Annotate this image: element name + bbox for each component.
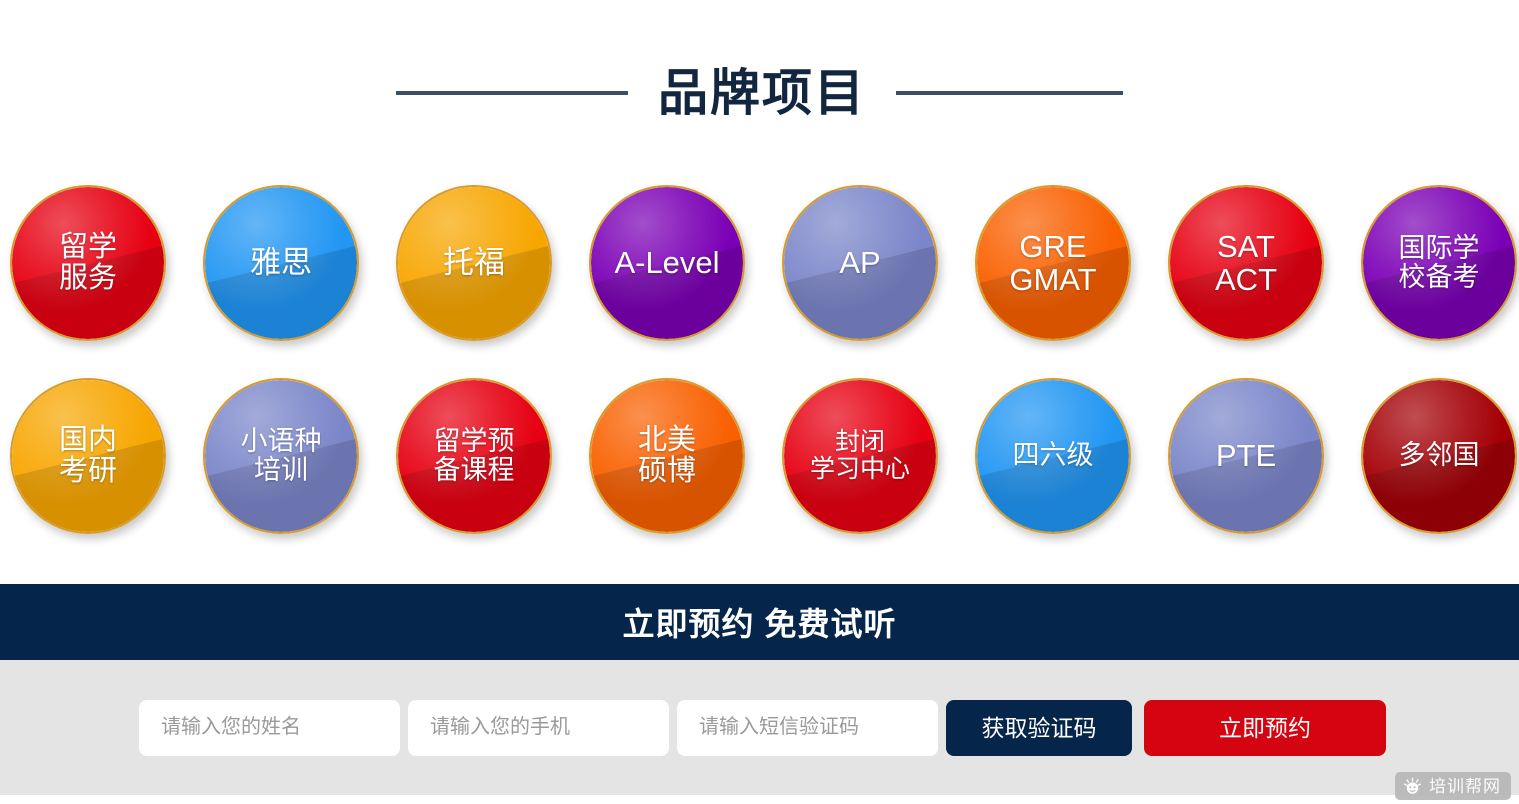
- program-bubble-label: 托福: [437, 246, 511, 279]
- sun-face-icon: [1403, 777, 1422, 796]
- phone-input[interactable]: [408, 700, 669, 756]
- program-bubble-guoji-xuexiao-beikao[interactable]: 国际学 校备考: [1361, 185, 1517, 341]
- program-bubble-duolingguo[interactable]: 多邻国: [1361, 378, 1517, 534]
- cta-banner: 立即预约 免费试听: [0, 584, 1519, 660]
- get-verification-code-button[interactable]: 获取验证码: [946, 700, 1132, 756]
- site-watermark: 培训帮网: [1395, 772, 1511, 800]
- program-bubble-label: 留学 服务: [53, 232, 123, 295]
- program-bubble-ap[interactable]: AP: [782, 185, 938, 341]
- sms-code-input[interactable]: [677, 700, 938, 756]
- program-bubble-label: A-Level: [608, 246, 725, 279]
- program-bubble-label: SAT ACT: [1209, 230, 1283, 297]
- program-bubble-si-liu-ji[interactable]: 四六级: [975, 378, 1131, 534]
- program-bubble-label: 留学预 备课程: [428, 427, 521, 485]
- cta-banner-text: 立即预约 免费试听: [623, 599, 897, 645]
- page-header: 品牌项目: [0, 58, 1519, 128]
- program-grid: 留学 服务雅思托福A-LevelAPGRE GMATSAT ACT国际学 校备考…: [10, 185, 1519, 538]
- program-bubble-a-level[interactable]: A-Level: [589, 185, 745, 341]
- reservation-form-strip: 获取验证码 立即预约: [0, 660, 1519, 795]
- program-bubble-label: 四六级: [1007, 441, 1100, 470]
- page-title: 品牌项目: [658, 68, 866, 118]
- program-bubble-yasi[interactable]: 雅思: [203, 185, 359, 341]
- program-bubble-gre-gmat[interactable]: GRE GMAT: [975, 185, 1131, 341]
- program-bubble-label: 雅思: [244, 246, 318, 279]
- header-rule-left: [396, 91, 628, 95]
- program-bubble-fengbi-xuexi-zhongxin[interactable]: 封闭 学习中心: [782, 378, 938, 534]
- program-bubble-label: 国内 考研: [53, 425, 123, 488]
- program-bubble-tuofu[interactable]: 托福: [396, 185, 552, 341]
- program-bubble-label: 小语种 培训: [235, 427, 328, 485]
- program-bubble-pte[interactable]: PTE: [1168, 378, 1324, 534]
- program-bubble-label: 北美 硕博: [632, 425, 702, 488]
- program-bubble-label: 多邻国: [1393, 441, 1486, 470]
- reservation-form: 获取验证码 立即预约: [139, 700, 1386, 756]
- program-bubble-guonei-kaoyan[interactable]: 国内 考研: [10, 378, 166, 534]
- program-bubble-liuxue-yubei-kecheng[interactable]: 留学预 备课程: [396, 378, 552, 534]
- brand-programs-page: 品牌项目 留学 服务雅思托福A-LevelAPGRE GMATSAT ACT国际…: [0, 0, 1519, 804]
- name-input[interactable]: [139, 700, 400, 756]
- program-bubble-beimei-shuobo[interactable]: 北美 硕博: [589, 378, 745, 534]
- program-bubble-label: 国际学 校备考: [1393, 234, 1486, 292]
- program-bubble-sat-act[interactable]: SAT ACT: [1168, 185, 1324, 341]
- program-bubble-label: PTE: [1210, 439, 1282, 472]
- program-bubble-label: GRE GMAT: [1003, 230, 1102, 297]
- watermark-text: 培训帮网: [1429, 778, 1501, 795]
- program-bubble-label: AP: [833, 246, 886, 279]
- program-bubble-xiaoyuzhong-peixun[interactable]: 小语种 培训: [203, 378, 359, 534]
- program-bubble-liuxue-fuwu[interactable]: 留学 服务: [10, 185, 166, 341]
- submit-reservation-button[interactable]: 立即预约: [1144, 700, 1386, 756]
- header-rule-right: [896, 91, 1123, 95]
- program-bubble-label: 封闭 学习中心: [804, 429, 916, 483]
